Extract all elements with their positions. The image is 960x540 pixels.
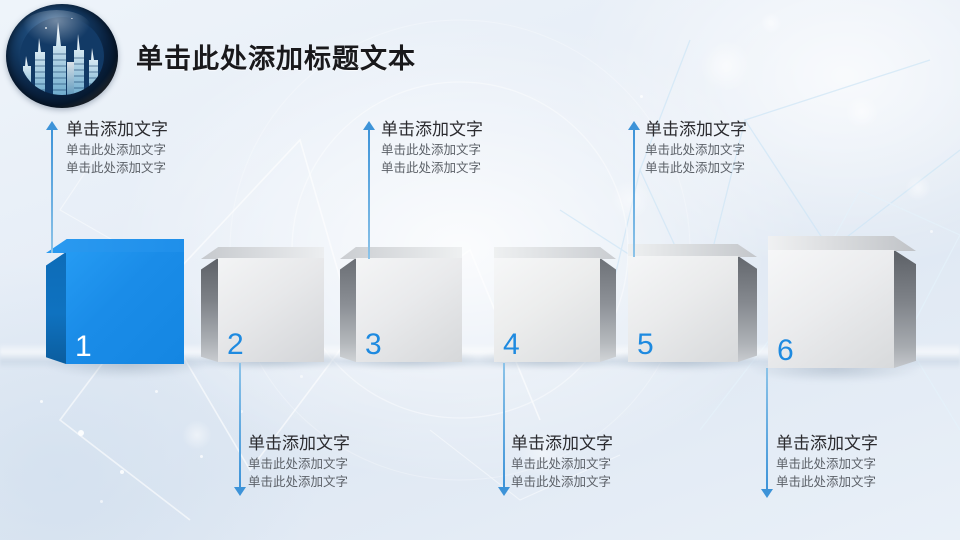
cube-1-top-face	[46, 239, 184, 253]
callout-6-text: 单击添加文字 单击此处添加文字 单击此处添加文字	[776, 432, 878, 492]
callout-3-heading: 单击添加文字	[381, 118, 483, 141]
sparkle-dot	[78, 430, 84, 436]
connector-arrow-up-5	[627, 121, 641, 257]
sparkle-dot	[120, 470, 124, 474]
orb-gloss-highlight	[22, 10, 91, 45]
cube-4-number: 4	[503, 330, 520, 360]
presentation-slide: 单击此处添加标题文本 1 2 3 4 5	[0, 0, 960, 540]
callout-4-line-2: 单击此处添加文字	[511, 473, 613, 491]
cube-5-side-face	[738, 256, 757, 362]
connector-arrow-up-3	[362, 121, 376, 259]
bokeh-circle	[905, 175, 931, 201]
arrow-stem	[239, 363, 241, 488]
callout-3-text: 单击添加文字 单击此处添加文字 单击此处添加文字	[381, 118, 483, 178]
callout-3-line-1: 单击此处添加文字	[381, 141, 483, 159]
callout-2-text: 单击添加文字 单击此处添加文字 单击此处添加文字	[248, 432, 350, 492]
cube-1[interactable]: 1	[66, 252, 184, 364]
cube-5[interactable]: 5	[628, 256, 738, 362]
callout-1-heading: 单击添加文字	[66, 118, 168, 141]
cube-4-side-face	[600, 258, 616, 362]
callout-1-line-2: 单击此处添加文字	[66, 159, 168, 177]
sparkle-dot	[40, 400, 43, 403]
arrowhead-down-icon	[498, 487, 510, 496]
arrowhead-down-icon	[761, 489, 773, 498]
callout-3-line-2: 单击此处添加文字	[381, 159, 483, 177]
bokeh-circle	[760, 12, 782, 34]
cube-6-side-face	[894, 250, 916, 368]
arrow-stem	[51, 129, 53, 253]
cube-6[interactable]: 6	[768, 250, 894, 368]
arrow-stem	[368, 129, 370, 259]
callout-1-text: 单击添加文字 单击此处添加文字 单击此处添加文字	[66, 118, 168, 178]
callout-5-heading: 单击添加文字	[645, 118, 747, 141]
sparkle-dot	[100, 500, 103, 503]
callout-5-line-1: 单击此处添加文字	[645, 141, 747, 159]
cube-2-number: 2	[227, 330, 244, 360]
connector-arrow-down-4	[497, 363, 511, 496]
cube-2-side-face	[201, 258, 218, 362]
callout-5-line-2: 单击此处添加文字	[645, 159, 747, 177]
sparkle-dot	[640, 95, 643, 98]
cube-3-side-face	[340, 258, 356, 362]
city-skyline-orb-logo	[6, 4, 118, 108]
callout-2-line-2: 单击此处添加文字	[248, 473, 350, 491]
cube-5-number: 5	[637, 330, 654, 360]
callout-4-heading: 单击添加文字	[511, 432, 613, 455]
bokeh-circle	[845, 95, 879, 129]
callout-2-heading: 单击添加文字	[248, 432, 350, 455]
cube-6-number: 6	[777, 336, 794, 366]
callout-6-line-2: 单击此处添加文字	[776, 473, 878, 491]
connector-arrow-up-1	[45, 121, 59, 253]
cube-3[interactable]: 3	[356, 258, 462, 362]
callout-5-text: 单击添加文字 单击此处添加文字 单击此处添加文字	[645, 118, 747, 178]
connector-arrow-down-2	[233, 363, 247, 496]
callout-4-text: 单击添加文字 单击此处添加文字 单击此处添加文字	[511, 432, 613, 492]
cube-1-side-face	[46, 252, 66, 364]
arrow-stem	[766, 368, 768, 490]
bokeh-circle	[182, 420, 212, 450]
arrow-stem	[503, 363, 505, 488]
sparkle-dot	[155, 390, 158, 393]
callout-2-line-1: 单击此处添加文字	[248, 455, 350, 473]
cube-1-number: 1	[75, 332, 92, 362]
bokeh-circle	[700, 40, 752, 92]
cube-2[interactable]: 2	[218, 258, 324, 362]
connector-arrow-down-6	[760, 368, 774, 498]
arrow-stem	[633, 129, 635, 257]
callout-1-line-1: 单击此处添加文字	[66, 141, 168, 159]
callout-4-line-1: 单击此处添加文字	[511, 455, 613, 473]
cube-3-number: 3	[365, 330, 382, 360]
page-title: 单击此处添加标题文本	[136, 37, 416, 76]
sparkle-dot	[200, 455, 203, 458]
sparkle-dot	[930, 230, 933, 233]
cube-6-top-face	[768, 236, 916, 251]
callout-6-heading: 单击添加文字	[776, 432, 878, 455]
sparkle-dot	[300, 375, 303, 378]
cube-4[interactable]: 4	[494, 258, 600, 362]
callout-6-line-1: 单击此处添加文字	[776, 455, 878, 473]
arrowhead-down-icon	[234, 487, 246, 496]
